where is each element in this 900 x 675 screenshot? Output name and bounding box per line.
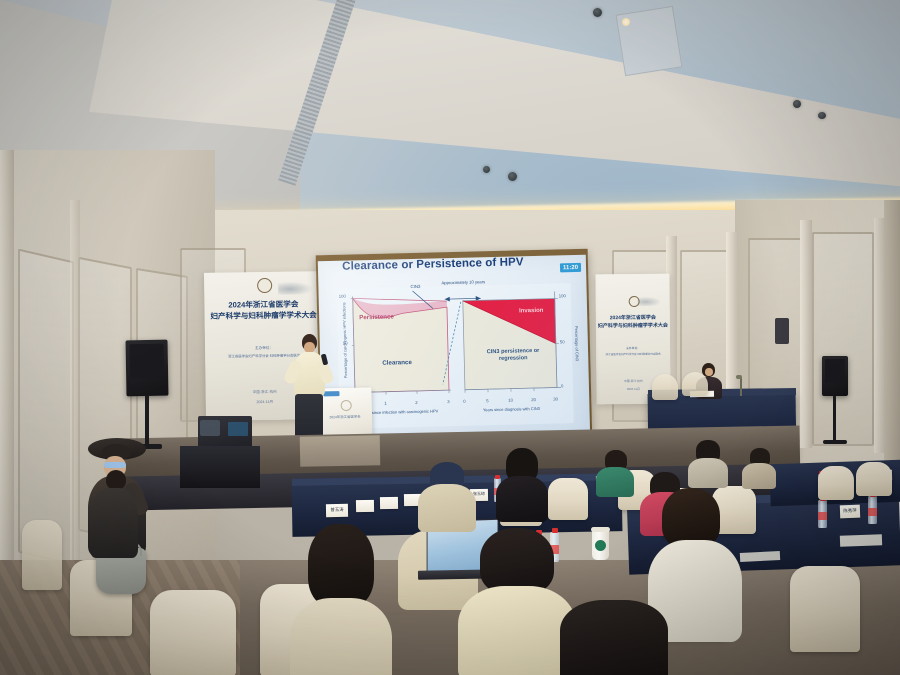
moderator-face — [705, 368, 713, 376]
association-emblem-icon — [257, 278, 272, 293]
audience-member — [596, 450, 636, 494]
conference-room-photo: 2024年浙江省医学会 妇产科学与妇科肿瘤学学术大会 主办单位： 浙江省医学会妇… — [0, 0, 900, 675]
name-card-text: 曾玉涛 — [326, 507, 348, 513]
x-tick-right-30: 30 — [553, 396, 558, 401]
name-card-text: 陈秀萍 — [840, 508, 860, 515]
audience-hair — [308, 524, 374, 608]
audience-clothing — [496, 476, 548, 522]
audience-clothing — [90, 488, 138, 558]
audience-member — [84, 470, 144, 580]
y-axis-label-left: Percentage of carcinogenic HPV infection… — [342, 320, 348, 378]
audience-member-foreground — [560, 600, 670, 675]
region-label-cin3-persistence: CIN3 persistence or regression — [478, 348, 548, 364]
banquet-chair — [856, 462, 892, 496]
pa-speaker-grille-icon — [130, 344, 165, 379]
audience-clothing — [290, 598, 392, 675]
slide-time-badge: 11:20 — [560, 263, 581, 273]
banner-sub-org: 浙江省医学会妇产科学分会 妇科肿瘤学分会联合 — [596, 352, 670, 357]
audience-hair — [560, 600, 668, 675]
right-wall-edge — [884, 200, 900, 470]
x-tick-right-10: 10 — [508, 398, 513, 403]
moderator-chair — [682, 372, 708, 396]
wall-panel — [18, 249, 74, 566]
wall-panel — [812, 232, 874, 446]
ceiling-spotlight-icon — [508, 172, 517, 181]
notepad — [840, 534, 882, 546]
wall-speaker — [775, 318, 789, 344]
audience-member — [494, 448, 550, 518]
ceiling-spotlight-icon — [793, 100, 801, 108]
av-equipment-panel — [200, 420, 220, 436]
moderator-microphone-icon — [740, 378, 742, 396]
name-card — [356, 500, 374, 512]
pa-speaker-right — [822, 356, 848, 396]
ceiling-spotlight-icon — [818, 112, 826, 119]
audience-hair — [480, 528, 554, 594]
x-tick-right-5: 5 — [486, 398, 489, 403]
x-tick-right-0: 0 — [463, 399, 466, 404]
water-bottle — [818, 500, 827, 528]
podium-emblem-icon — [340, 400, 351, 411]
banner-ink-motif — [278, 280, 316, 295]
audience-clothing — [742, 463, 776, 489]
name-card: 陈秀萍 — [840, 505, 860, 519]
banquet-chair — [790, 566, 860, 652]
ceiling-spotlight-icon — [483, 166, 490, 173]
region-label-clearance: Clearance — [382, 359, 412, 367]
annotation-cin3-leader — [408, 288, 435, 311]
banquet-chair — [818, 466, 854, 500]
y-tick-left-100: 100 — [339, 294, 346, 299]
wall-pilaster — [0, 150, 14, 580]
annotation-approx-10-years: Approximately 10 years — [440, 279, 486, 285]
name-card: 曾玉涛 — [326, 504, 348, 517]
moderator-mic-head-icon — [736, 375, 742, 379]
audience-clothing — [418, 484, 476, 532]
wall-pilaster — [800, 220, 812, 448]
banner-sub-label: 主办单位： — [596, 346, 670, 351]
av-equipment-display — [228, 422, 248, 436]
audience-member — [742, 448, 778, 486]
x-axis-label-right: Years since diagnosis with CIN3 — [455, 405, 567, 413]
banner-title-line1: 2024年浙江省医学会 — [596, 314, 670, 322]
moderator-chair — [652, 374, 678, 400]
ceiling-access-hatch — [616, 6, 683, 76]
banquet-chair — [22, 520, 62, 590]
audience-member — [286, 524, 396, 675]
ceiling-spotlight-icon — [593, 8, 602, 17]
y-tick-right-0: 0 — [561, 383, 564, 388]
x-tick-left-1: 1 — [384, 401, 387, 406]
region-label-invasion: Invasion — [519, 308, 543, 315]
pa-speaker — [126, 340, 169, 397]
audience-member — [686, 440, 730, 484]
y-tick-right-100: 100 — [559, 293, 566, 298]
wall-pilaster — [70, 200, 80, 580]
speaker-stand-base — [823, 440, 847, 444]
region-label-persistence: Persistence — [359, 313, 394, 321]
x-tick-right-20: 20 — [531, 397, 536, 402]
audience-hair — [662, 488, 720, 548]
y-tick-right-50: 50 — [560, 339, 565, 344]
water-bottle — [868, 496, 877, 524]
banner-ink-motif — [638, 296, 664, 306]
speaker-stand-pole — [833, 396, 836, 442]
bottle-label — [868, 508, 877, 516]
audience-clothing — [688, 458, 728, 488]
coffee-cup — [592, 530, 609, 560]
chart-right-panel — [459, 287, 564, 397]
x-tick-left-3: 3 — [447, 399, 450, 404]
ceiling-spotlight-icon — [622, 18, 630, 26]
banquet-chair — [548, 478, 588, 520]
audience-hair — [106, 470, 126, 490]
audience-clothing — [458, 586, 576, 675]
banner-title-line2: 妇产科学与妇科肿瘤学学术大会 — [205, 309, 323, 322]
stage-step — [300, 435, 381, 467]
slide-chart: 100 50 0 0 1 2 3 Percentage of carcinoge… — [336, 283, 573, 429]
pa-speaker-grille-icon — [825, 359, 845, 383]
audience-member — [418, 462, 478, 530]
cup-lid-icon — [591, 527, 610, 532]
x-tick-left-2: 2 — [415, 400, 418, 405]
y-axis-label-right: Percentage of CIN3 — [574, 314, 580, 372]
av-cart — [180, 446, 260, 488]
audience-clothing — [596, 467, 634, 497]
banner-title-line2: 妇产科学与妇科肿瘤学学术大会 — [596, 322, 670, 330]
bottle-label — [818, 512, 827, 520]
cup-logo-icon — [595, 540, 606, 551]
eyeglasses-icon — [104, 462, 126, 468]
